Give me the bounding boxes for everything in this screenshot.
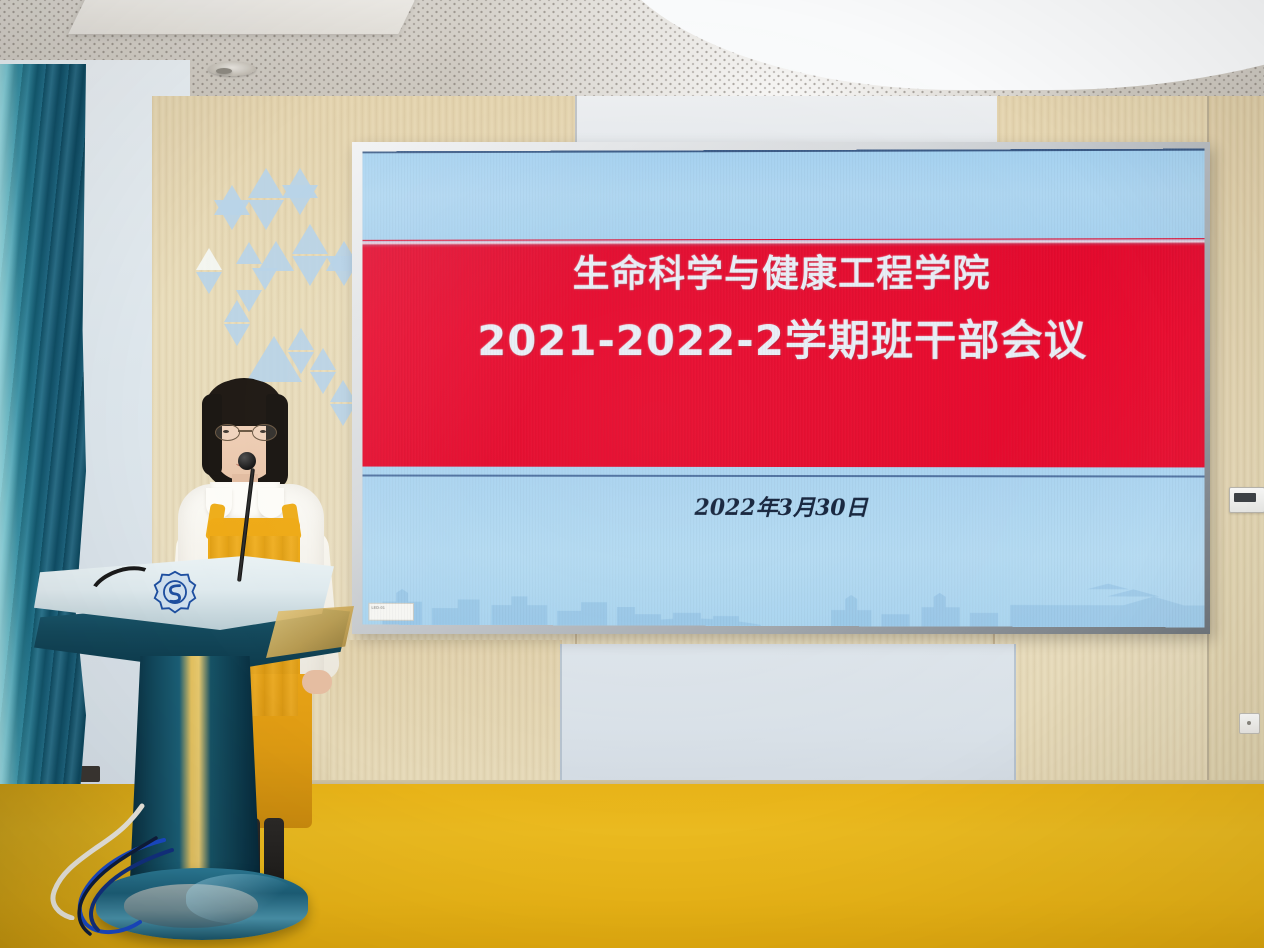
- microphone-icon[interactable]: [236, 452, 256, 582]
- microphone-stem: [237, 468, 255, 582]
- triangle-icon: [214, 200, 250, 230]
- city-skyline-watermark: [362, 577, 1204, 627]
- presenter-hair-right: [266, 394, 288, 488]
- triangle-icon: [224, 300, 250, 322]
- socket-icon[interactable]: [1239, 713, 1260, 734]
- screen-title-block: 生命科学与健康工程学院 2021-2022-2学期班干部会议: [362, 244, 1204, 373]
- triangle-icon: [310, 348, 336, 370]
- triangle-icon: [282, 168, 318, 198]
- screen-asset-label: LED-01: [368, 603, 414, 621]
- university-emblem-icon: [152, 570, 198, 616]
- triangle-icon: [252, 268, 278, 290]
- photo-scene: 生命科学与健康工程学院 2021-2022-2学期班干部会议 2022年3月30…: [0, 0, 1264, 948]
- triangle-icon: [248, 200, 284, 230]
- thermostat-icon[interactable]: [1229, 487, 1264, 513]
- screen-title-line-2: 2021-2022-2学期班干部会议: [362, 309, 1204, 374]
- wall-lower-left-wood: [330, 640, 562, 788]
- network-cable-blue: [36, 836, 216, 948]
- glasses-lens-right: [252, 424, 277, 441]
- speaker-icon: [208, 62, 256, 76]
- triangle-icon: [196, 248, 222, 270]
- wall-lower-grey-panel: [560, 644, 1016, 784]
- speaker-center-icon: [216, 68, 232, 74]
- triangle-icon: [258, 241, 294, 271]
- wall-right-pillar: [1207, 96, 1264, 856]
- triangle-icon: [288, 328, 314, 350]
- triangle-icon: [248, 168, 284, 198]
- glasses-lens-left: [215, 424, 240, 441]
- triangle-icon: [196, 272, 222, 294]
- screen-top-sky: [362, 149, 1204, 240]
- microphone-head: [238, 452, 256, 470]
- led-screen-display[interactable]: 生命科学与健康工程学院 2021-2022-2学期班干部会议 2022年3月30…: [362, 149, 1204, 628]
- screen-title-line-1: 生命科学与健康工程学院: [362, 244, 1204, 303]
- triangle-icon: [292, 256, 328, 286]
- glasses-bridge: [238, 430, 252, 432]
- triangle-icon: [292, 224, 328, 254]
- screen-date-text: 2022年3月30日: [362, 490, 1204, 523]
- ceiling-soffit: [68, 0, 421, 34]
- triangle-icon: [236, 242, 262, 264]
- led-screen-frame: 生命科学与健康工程学院 2021-2022-2学期班干部会议 2022年3月30…: [352, 142, 1210, 634]
- glasses-icon: [215, 424, 275, 440]
